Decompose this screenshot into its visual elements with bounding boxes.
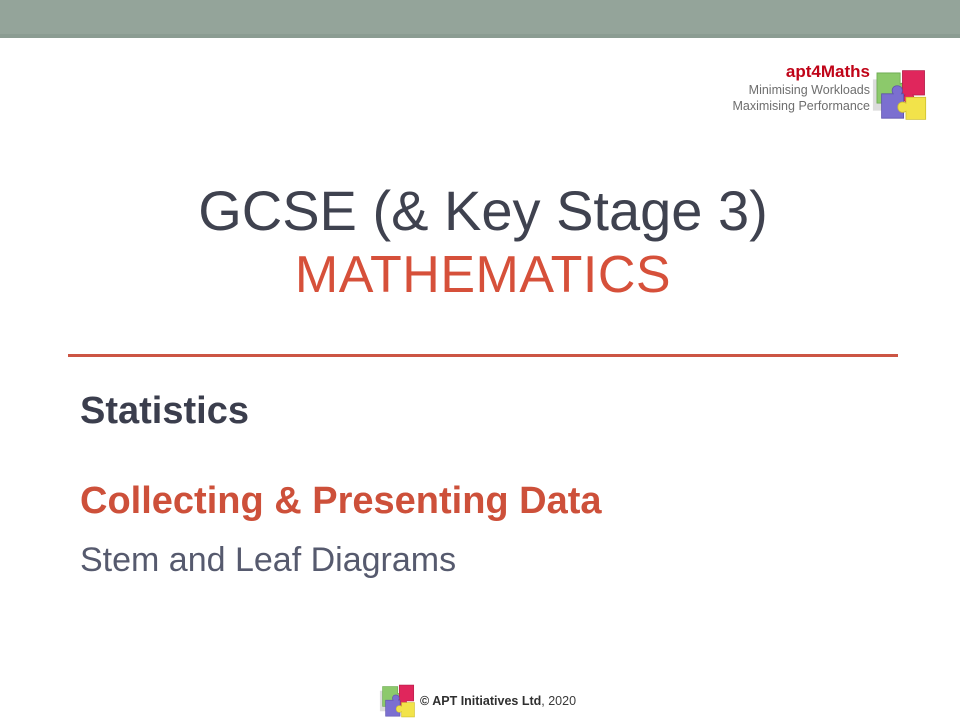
- footer-copyright: © APT Initiatives Ltd, 2020: [420, 693, 576, 709]
- content-block: Statistics Collecting & Presenting Data …: [80, 388, 900, 582]
- slide-canvas: apt4Maths Minimising Workloads Maximisin…: [0, 0, 960, 720]
- top-bar-accent-stripe: [0, 34, 960, 38]
- footer-copyright-year: , 2020: [541, 694, 576, 708]
- topic-heading: Collecting & Presenting Data: [80, 478, 900, 524]
- title-divider: [68, 354, 898, 357]
- page-title-line-2: MATHEMATICS: [68, 244, 898, 306]
- footer-puzzle-pieces-icon: [378, 682, 416, 720]
- page-title-line-1: GCSE (& Key Stage 3): [68, 178, 898, 244]
- puzzle-pieces-icon: [870, 66, 928, 124]
- brand-tagline-line-1: Minimising Workloads: [678, 82, 870, 98]
- footer-copyright-owner: © APT Initiatives Ltd: [420, 694, 541, 708]
- subject-heading: Statistics: [80, 388, 900, 434]
- brand-text-group: apt4Maths Minimising Workloads Maximisin…: [678, 62, 870, 114]
- brand-name: apt4Maths: [678, 62, 870, 82]
- brand-block: apt4Maths Minimising Workloads Maximisin…: [678, 62, 930, 138]
- top-decorative-bar: [0, 0, 960, 34]
- brand-tagline-line-2: Maximising Performance: [678, 98, 870, 114]
- slide-title-block: GCSE (& Key Stage 3) MATHEMATICS: [68, 178, 898, 306]
- subtopic-heading: Stem and Leaf Diagrams: [80, 538, 900, 582]
